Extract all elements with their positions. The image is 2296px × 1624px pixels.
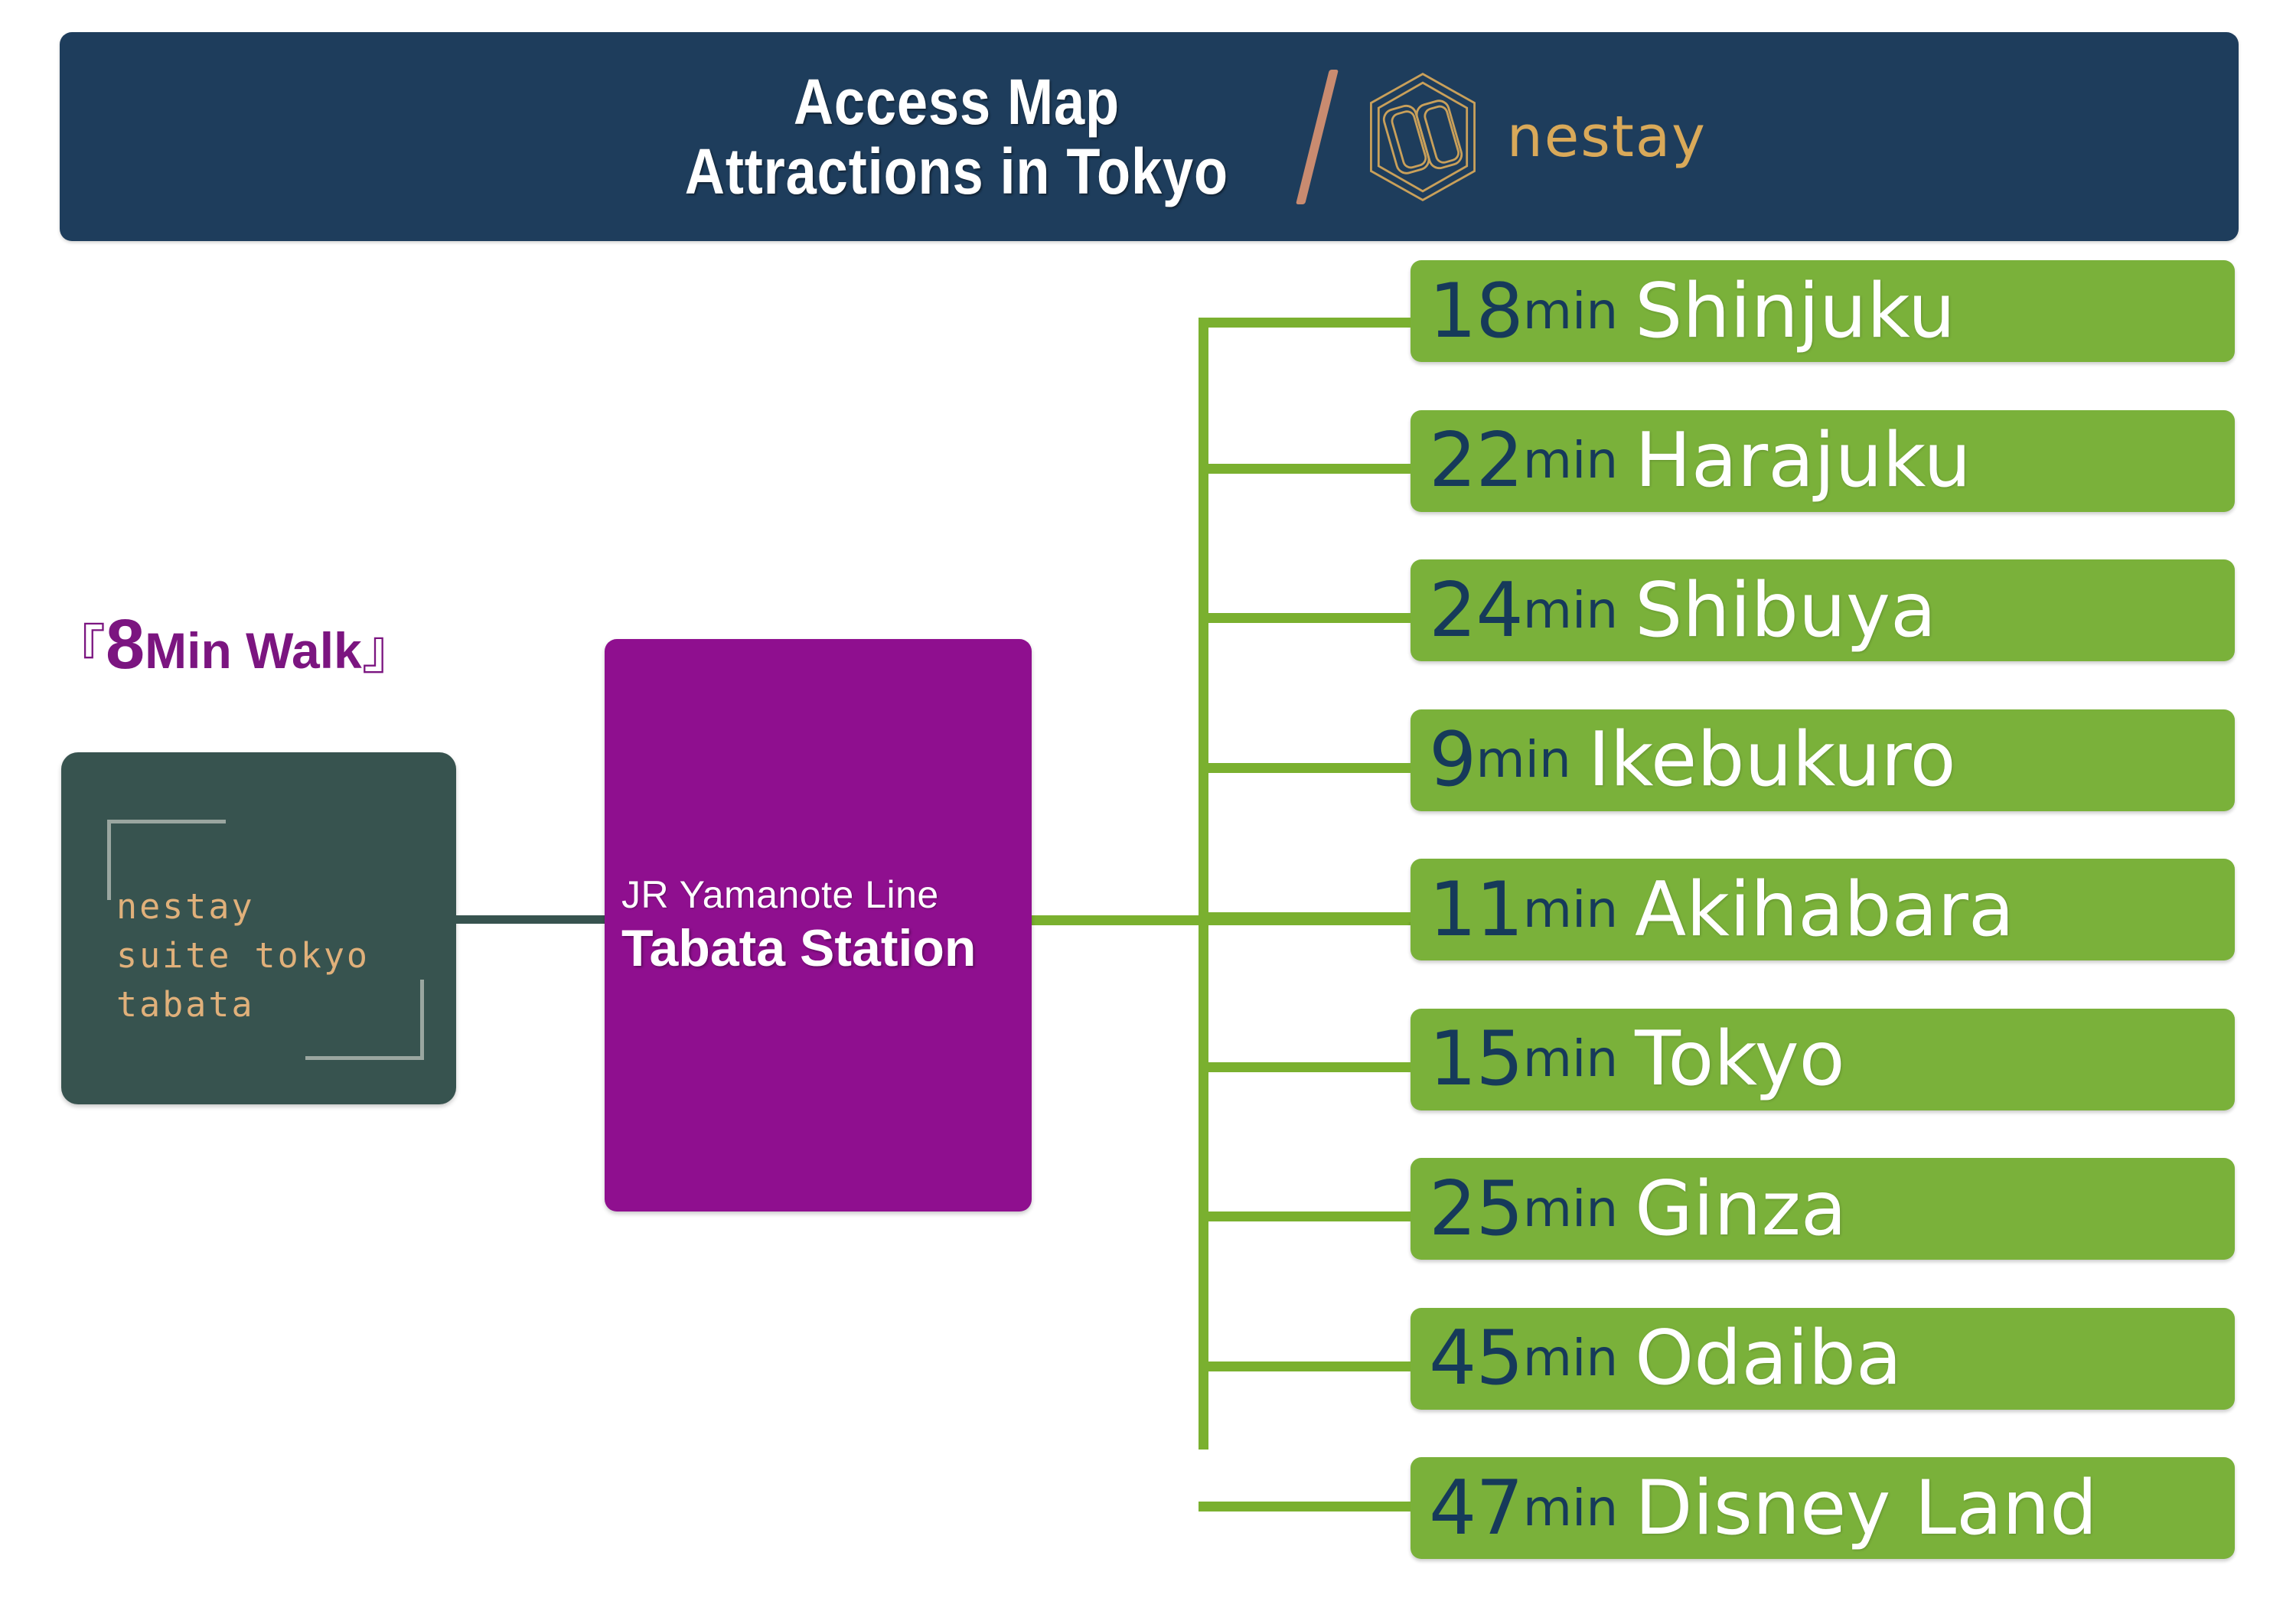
destination-minutes: 47	[1429, 1471, 1523, 1546]
property-name-line1: nestay	[116, 882, 422, 931]
destination-place: Disney Land	[1635, 1471, 2097, 1546]
destination-place: Shinjuku	[1635, 274, 1955, 349]
destination-place: Shibuya	[1635, 573, 1936, 648]
slash-divider-icon	[1296, 70, 1339, 204]
nestay-hexagon-logo-icon	[1358, 69, 1487, 205]
walk-close-bracket: 』	[362, 620, 416, 680]
destination-minutes: 22	[1429, 423, 1523, 498]
destination-unit: min	[1523, 286, 1618, 337]
destination-place: Tokyo	[1635, 1022, 1844, 1097]
destination-unit: min	[1523, 1034, 1618, 1084]
tree-branch-line	[1199, 318, 1411, 328]
tree-branch-line	[1199, 763, 1411, 773]
tree-branch-line	[1199, 1062, 1411, 1072]
header-inner: Access Map Attractions in Tokyo nestay	[641, 67, 1707, 206]
tree-branch-line	[1199, 912, 1411, 922]
destination-unit: min	[1523, 1184, 1618, 1234]
walk-connector-line	[456, 915, 608, 924]
tree-branch-line	[1199, 1361, 1411, 1371]
tree-branch-line	[1199, 1211, 1411, 1221]
tree-trunk-line	[1199, 322, 1208, 1450]
page-title-line1: Access Map	[794, 66, 1120, 138]
destination-minutes: 25	[1429, 1172, 1523, 1247]
destination-place: Akihabara	[1635, 872, 2014, 947]
destination-minutes: 15	[1429, 1022, 1523, 1097]
station-box[interactable]: JR Yamanote Line Tabata Station	[605, 639, 1032, 1211]
walk-open-bracket: 『	[52, 620, 106, 680]
property-name-line3: tabata	[116, 980, 422, 1029]
destination-row[interactable]: 24minShibuya	[1411, 559, 2235, 661]
destination-row[interactable]: 15minTokyo	[1411, 1009, 2235, 1110]
brand-lockup: nestay	[1358, 69, 1707, 205]
property-name: nestay suite tokyo tabata	[116, 882, 422, 1029]
destination-row[interactable]: 45minOdaiba	[1411, 1308, 2235, 1410]
destination-minutes: 18	[1429, 274, 1523, 349]
destination-minutes: 11	[1429, 872, 1523, 947]
destination-unit: min	[1523, 435, 1618, 486]
walk-minutes: 8	[106, 605, 145, 683]
station-line-name: JR Yamanote Line	[621, 872, 939, 917]
tree-branch-line	[1199, 464, 1411, 474]
page-title-line2: Attractions in Tokyo	[685, 137, 1228, 207]
destination-place: Odaiba	[1635, 1321, 1902, 1396]
destination-minutes: 24	[1429, 573, 1523, 648]
destination-minutes: 45	[1429, 1321, 1523, 1396]
destination-unit: min	[1523, 885, 1618, 935]
destination-unit: min	[1523, 1333, 1618, 1384]
destination-minutes: 9	[1429, 722, 1476, 797]
destination-unit: min	[1523, 1483, 1618, 1534]
property-card[interactable]: nestay suite tokyo tabata	[61, 752, 456, 1104]
destination-row[interactable]: 22minHarajuku	[1411, 410, 2235, 512]
destination-row[interactable]: 18minShinjuku	[1411, 260, 2235, 362]
destination-place: Ginza	[1635, 1172, 1847, 1247]
destination-place: Ikebukuro	[1588, 722, 1956, 797]
page-title: Access Map Attractions in Tokyo	[685, 67, 1228, 206]
destination-place: Harajuku	[1635, 423, 1971, 498]
destination-row[interactable]: 9minIkebukuro	[1411, 709, 2235, 811]
station-name: Tabata Station	[621, 918, 976, 978]
destination-row[interactable]: 25minGinza	[1411, 1158, 2235, 1260]
walk-time-label: 『8Min Walk』	[52, 605, 416, 685]
tree-branch-line	[1199, 1502, 1411, 1511]
walk-label-text: Min Walk	[145, 622, 362, 679]
brand-name: nestay	[1507, 104, 1707, 170]
destination-unit: min	[1523, 585, 1618, 636]
tree-branch-line	[1199, 613, 1411, 623]
destination-row[interactable]: 11minAkihabara	[1411, 859, 2235, 960]
destination-row[interactable]: 47minDisney Land	[1411, 1457, 2235, 1559]
header-bar: Access Map Attractions in Tokyo nestay	[60, 32, 2239, 241]
property-name-line2: suite tokyo	[116, 931, 422, 980]
destination-unit: min	[1476, 735, 1570, 785]
